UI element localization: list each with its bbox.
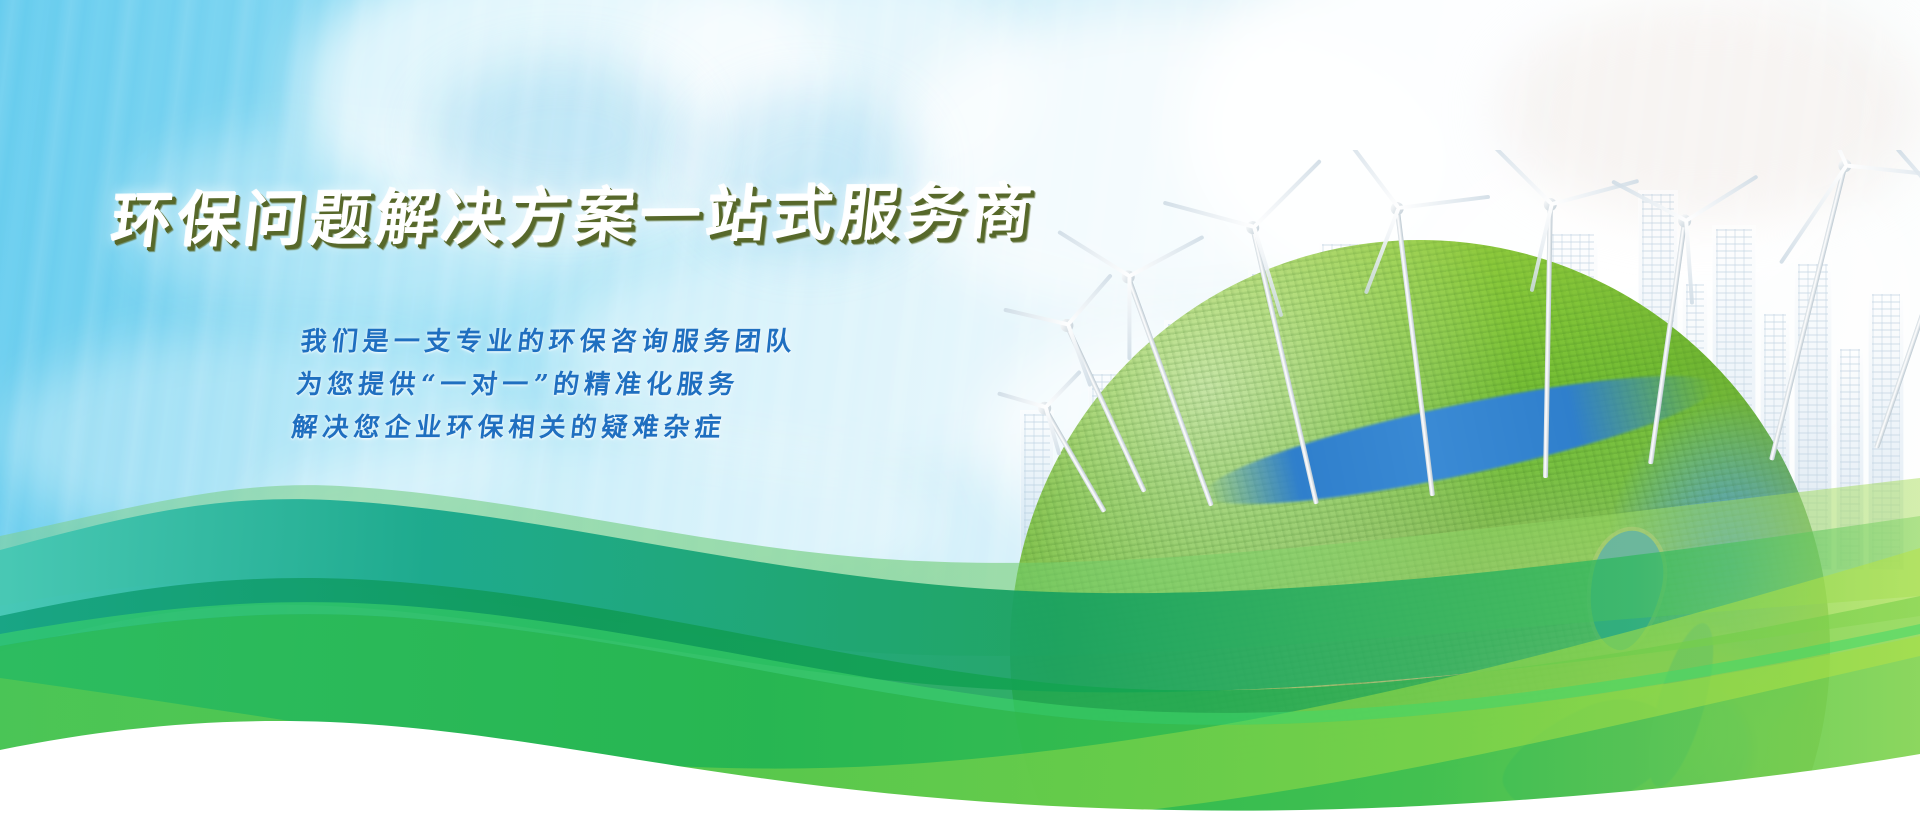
hero-banner: 环保问题解决方案一站式服务商 我们是一支专业的环保咨询服务团队 为您提供“一对一…	[0, 0, 1920, 840]
subtitle-block: 我们是一支专业的环保咨询服务团队 为您提供“一对一”的精准化服务 解决您企业环保…	[289, 322, 799, 451]
green-wave-ribbon	[0, 420, 1920, 840]
subtitle-line-1: 我们是一支专业的环保咨询服务团队	[298, 322, 798, 363]
subtitle-line-3: 解决您企业环保相关的疑难杂症	[289, 408, 789, 449]
page-title: 环保问题解决方案一站式服务商	[108, 163, 1043, 260]
subtitle-line-2: 为您提供“一对一”的精准化服务	[294, 365, 794, 406]
